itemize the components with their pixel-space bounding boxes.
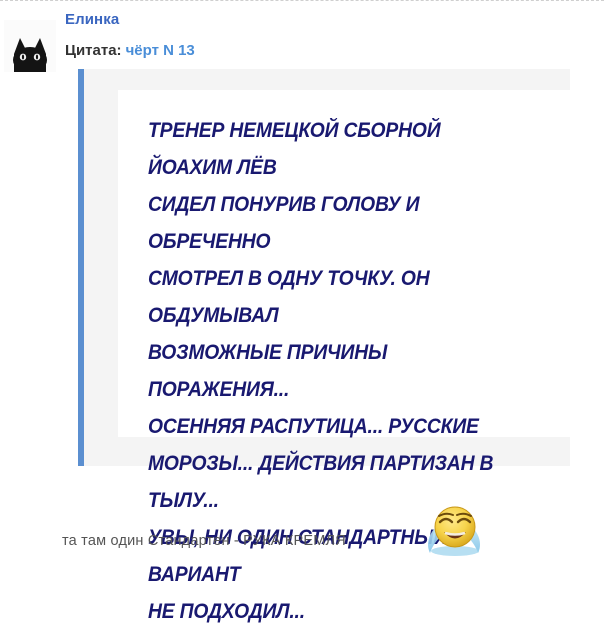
post-author-name[interactable]: Елинка — [65, 11, 119, 28]
citation-label: Цитата: — [65, 42, 122, 59]
black-cat-avatar-icon[interactable] — [4, 20, 56, 72]
citation-source-link[interactable]: чёрт N 13 — [126, 42, 195, 59]
crying-laughing-emoji — [424, 501, 486, 557]
quote-image[interactable]: ТРЕНЕР НЕМЕЦКОЙ СБОРНОЙ ЙОАХИМ ЛЁВ СИДЕЛ… — [118, 90, 570, 437]
top-divider — [0, 0, 604, 1]
citation-line: Цитата:чёрт N 13 — [65, 42, 195, 59]
footer-comment-text: та там один Стандартен - РУКА КРЕМЛЯ — [62, 533, 346, 549]
